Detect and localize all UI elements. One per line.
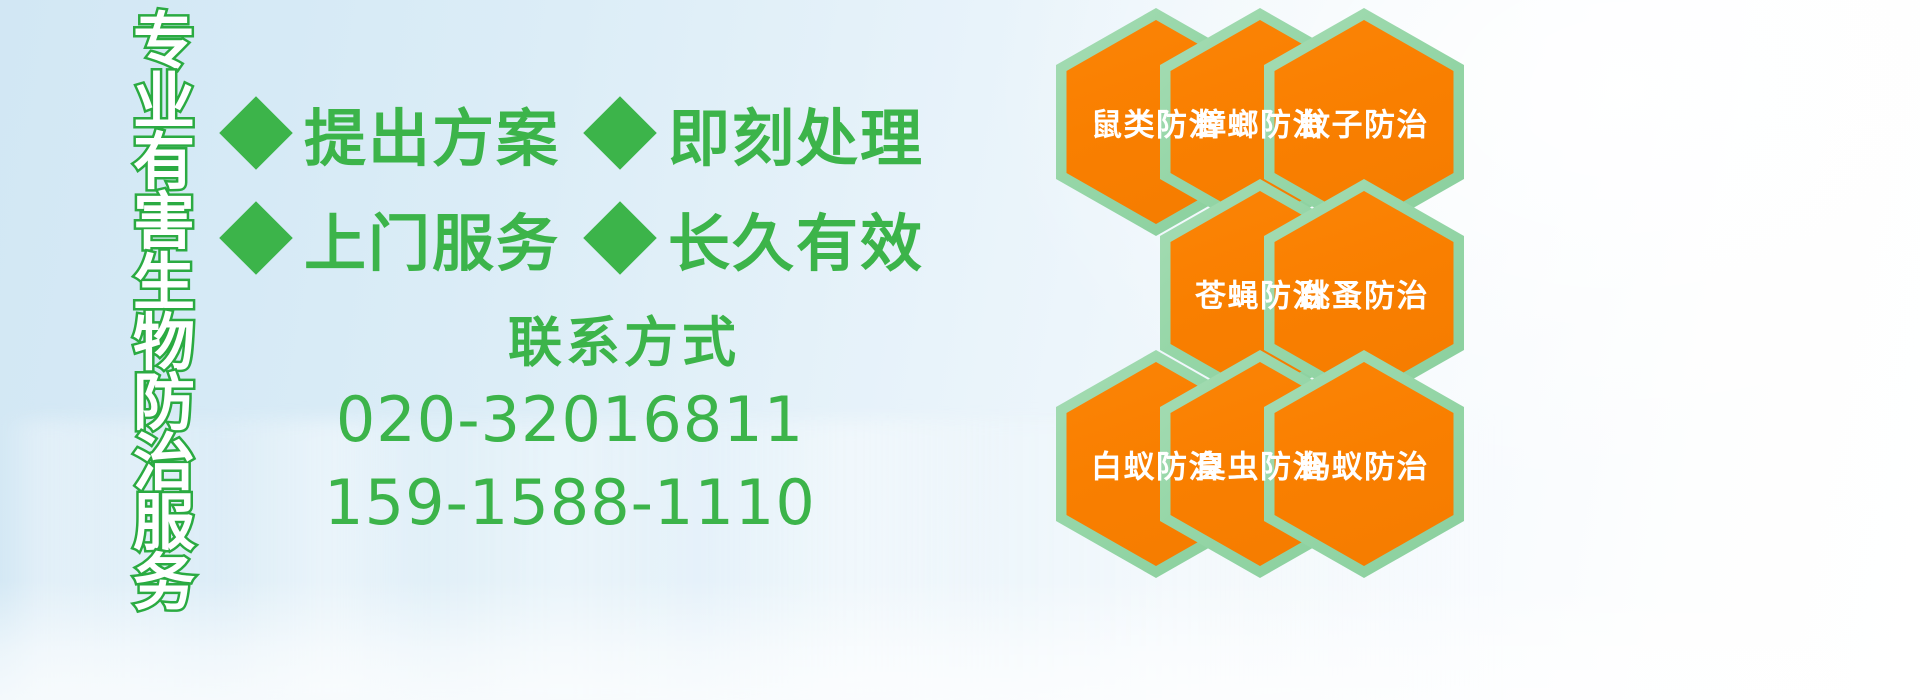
vertical-headline-char: 业 bbox=[133, 72, 195, 132]
background-smudge-overlay bbox=[0, 420, 1920, 700]
feature-item-immediate-handling: 即刻处理 bbox=[594, 88, 924, 178]
contact-block: 联系方式 020-32016811 159-1588-1110 bbox=[310, 315, 830, 538]
contact-phone-landline[interactable]: 020-32016811 bbox=[310, 384, 830, 455]
vertical-headline-char: 务 bbox=[133, 553, 195, 613]
vertical-headline-char: 防 bbox=[133, 373, 195, 433]
feature-row-1: 提出方案 即刻处理 bbox=[230, 88, 924, 178]
diamond-icon bbox=[219, 96, 293, 170]
contact-phone-mobile[interactable]: 159-1588-1110 bbox=[310, 467, 830, 538]
service-hexagon-grid: 鼠类防治 蟑螂防治 蚊子防治 苍蝇防治 跳蚤防治 白蚁防治 bbox=[1056, 8, 1526, 668]
contact-heading: 联系方式 bbox=[418, 315, 830, 372]
vertical-headline-char: 治 bbox=[133, 433, 195, 493]
feature-row-2: 上门服务 长久有效 bbox=[230, 193, 924, 283]
vertical-headline-char: 害 bbox=[133, 192, 195, 252]
diamond-icon bbox=[583, 96, 657, 170]
hex-service-label: 跳蚤防治 bbox=[1264, 271, 1464, 316]
feature-label: 即刻处理 bbox=[668, 88, 924, 178]
background-bottom-fade bbox=[0, 580, 1920, 700]
pest-control-service-banner: 专 业 有 害 生 物 防 治 服 务 提出方案 即刻处理 上门服务 长久有效 bbox=[0, 0, 1920, 700]
vertical-headline-char: 生 bbox=[133, 253, 195, 313]
hex-service-ant-control[interactable]: 蚂蚁防治 bbox=[1264, 350, 1464, 578]
vertical-headline-char: 专 bbox=[133, 12, 195, 72]
hex-service-label: 蚊子防治 bbox=[1264, 100, 1464, 145]
feature-label: 上门服务 bbox=[304, 193, 560, 283]
diamond-icon bbox=[583, 201, 657, 275]
vertical-headline-char: 有 bbox=[133, 132, 195, 192]
vertical-headline-char: 服 bbox=[133, 493, 195, 553]
hex-service-label: 蚂蚁防治 bbox=[1264, 442, 1464, 487]
feature-label: 长久有效 bbox=[668, 193, 924, 283]
vertical-headline: 专 业 有 害 生 物 防 治 服 务 bbox=[112, 12, 216, 612]
vertical-headline-char: 物 bbox=[133, 313, 195, 373]
feature-item-propose-plan: 提出方案 bbox=[230, 88, 560, 178]
feature-label: 提出方案 bbox=[304, 88, 560, 178]
feature-item-door-to-door-service: 上门服务 bbox=[230, 193, 560, 283]
feature-item-long-lasting-effect: 长久有效 bbox=[594, 193, 924, 283]
diamond-icon bbox=[219, 201, 293, 275]
